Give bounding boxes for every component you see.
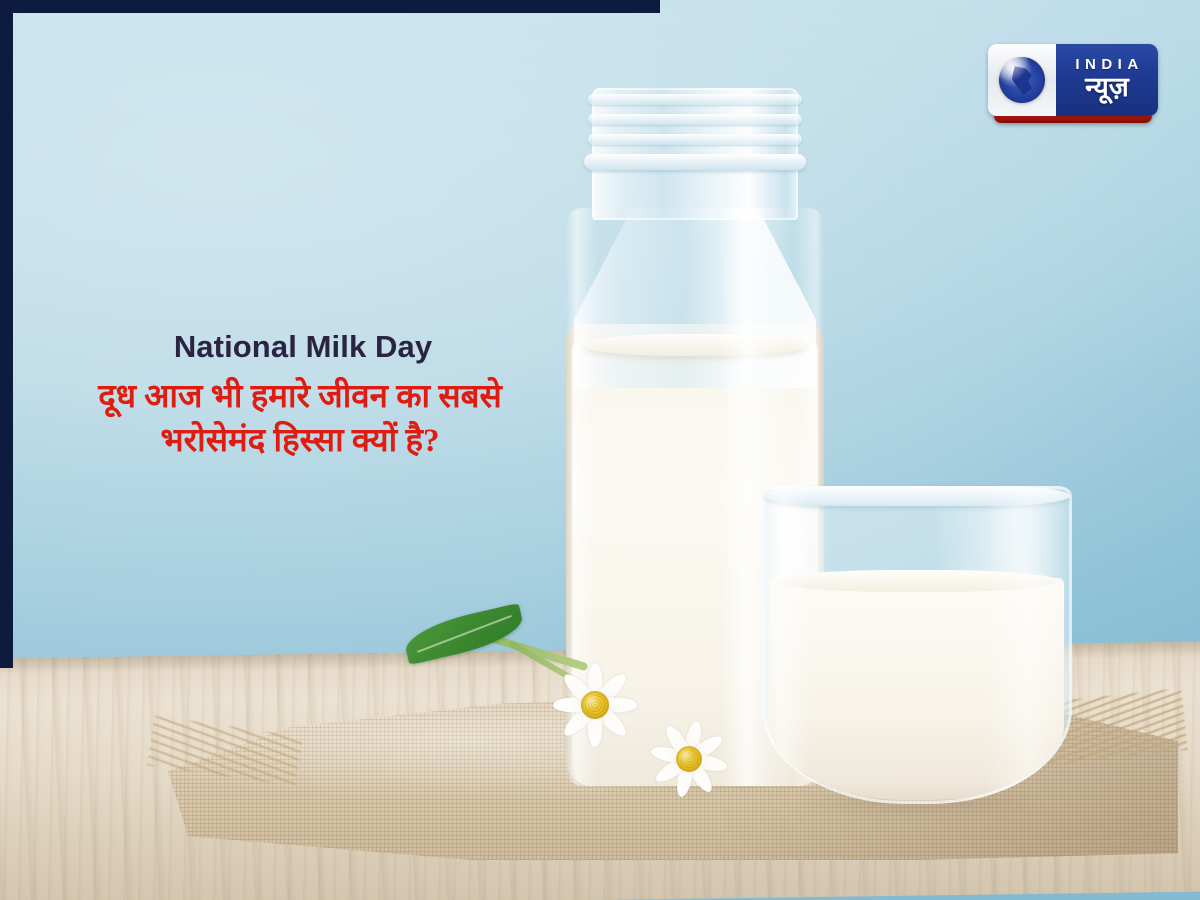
logo-brand-en: INDIA — [1070, 57, 1143, 72]
bottle-milk-surface — [582, 334, 808, 356]
bottle-shoulder — [574, 208, 816, 388]
logo-brand-hi: न्यूज़ — [1085, 73, 1129, 101]
headline-hindi-line-2: भरोसेमंद हिस्सा क्यों है? — [8, 420, 592, 464]
headline-block: National Milk Day दूध आज भी हमारे जीवन क… — [0, 330, 600, 464]
flower-center — [676, 746, 702, 772]
glass-rim — [764, 486, 1070, 506]
feature-image: National Milk Day दूध आज भी हमारे जीवन क… — [0, 0, 1200, 900]
flower-center — [581, 691, 609, 719]
daisy-flower-right — [635, 705, 744, 814]
glass-milk-surface — [776, 570, 1058, 592]
decorative-top-bar — [0, 0, 660, 13]
bottle-neck-lip — [584, 154, 806, 170]
india-news-logo[interactable]: INDIA न्यूज़ — [988, 44, 1158, 116]
globe-icon — [999, 57, 1045, 103]
logo-globe-cell — [988, 44, 1056, 116]
glass-milk-fill — [770, 578, 1064, 800]
bottle-thread — [588, 134, 802, 145]
bottle-thread — [588, 114, 802, 125]
milk-glass — [762, 486, 1072, 804]
headline-hindi: दूध आज भी हमारे जीवन का सबसे भरोसेमंद हि… — [0, 376, 600, 463]
bottle-thread — [588, 94, 802, 105]
logo-text-cell: INDIA न्यूज़ — [1056, 44, 1158, 116]
headline-hindi-line-1: दूध आज भी हमारे जीवन का सबसे — [8, 376, 592, 420]
logo-plate: INDIA न्यूज़ — [988, 44, 1158, 116]
page-title: National Milk Day — [0, 330, 600, 363]
